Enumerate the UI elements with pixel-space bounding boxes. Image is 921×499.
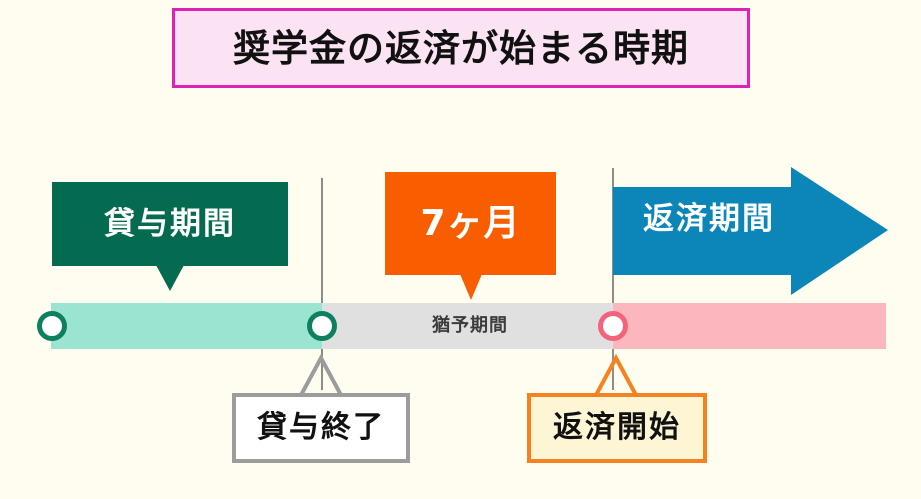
banner-loan-period: 貸与期間 [52,182,288,266]
callout-stem-loan-end [282,348,362,398]
banner-grace-months-label: 7ヶ月 [420,206,520,242]
timeline-segment-loan [51,303,322,349]
banner-grace-months: 7ヶ月 [385,172,556,275]
banner-grace-months-tail [460,274,482,300]
banner-repayment-period-label: 返済期間 [643,204,775,235]
callout-stem-repayment-start [577,348,657,398]
timeline-segment-repayment [613,303,886,349]
node-loan-start [37,311,67,341]
banner-loan-period-label: 貸与期間 [104,209,236,240]
callout-repayment-start: 返済開始 [527,393,707,463]
callout-loan-end-label: 貸与終了 [257,413,385,443]
callout-loan-end: 貸与終了 [232,393,410,463]
timeline-segment-grace-label: 猶予期間 [385,311,555,341]
infographic-canvas: 奨学金の返済が始まる時期 貸与期間 7ヶ月 返済期間 猶予期間 貸与終 [0,0,921,499]
page-title-box: 奨学金の返済が始まる時期 [172,8,750,88]
node-loan-end [307,311,337,341]
page-title: 奨学金の返済が始まる時期 [233,30,689,67]
node-repayment-start [598,311,628,341]
banner-loan-period-tail [156,265,184,291]
callout-repayment-start-label: 返済開始 [553,413,681,443]
